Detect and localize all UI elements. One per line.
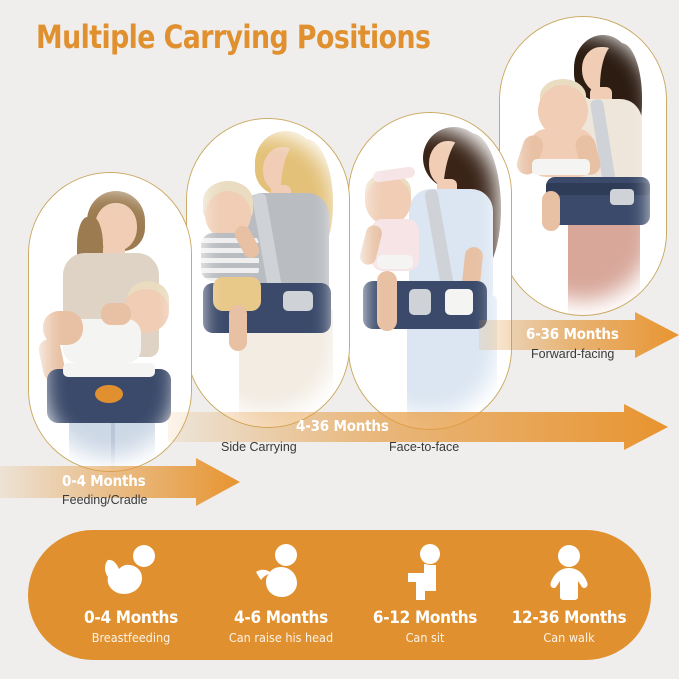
- stage-desc: Breastfeeding: [56, 630, 206, 645]
- arrow-side-carrying-age: 4-36 Months: [296, 417, 389, 435]
- photo-side-carrying: [187, 119, 349, 427]
- page-title: Multiple Carrying Positions: [36, 18, 430, 56]
- stage-raise-head: 4-6 Months Can raise his head: [206, 530, 356, 660]
- stage-months: 4-6 Months: [206, 608, 356, 628]
- photo-forward-facing: [500, 17, 666, 315]
- arrow-feeding-cradle-age: 0-4 Months: [62, 472, 146, 490]
- baby-breastfeeding-icon: [56, 544, 206, 606]
- photo-panel-side-carrying: [186, 118, 350, 428]
- stage-desc: Can walk: [494, 630, 644, 645]
- arrow-feeding-cradle-label: Feeding/Cradle: [62, 493, 147, 507]
- photo-face-to-face: [349, 113, 511, 429]
- stage-months: 12-36 Months: [494, 608, 644, 628]
- photo-panel-face-to-face: [348, 112, 512, 430]
- stage-can-walk: 12-36 Months Can walk: [494, 530, 644, 660]
- baby-walking-icon: [494, 544, 644, 606]
- arrow-forward-facing-label: Forward-facing: [531, 347, 614, 361]
- stage-can-sit: 6-12 Months Can sit: [350, 530, 500, 660]
- infographic-canvas: Multiple Carrying Positions: [0, 0, 679, 679]
- photo-feeding-cradle: [29, 173, 191, 471]
- carrier-logo-badge: [95, 385, 123, 403]
- arrow-side-carrying-label: Side Carrying: [221, 440, 297, 454]
- baby-sitting-icon: [350, 544, 500, 606]
- stage-months: 6-12 Months: [350, 608, 500, 628]
- stage-desc: Can raise his head: [206, 630, 356, 645]
- arrow-face-to-face-label: Face-to-face: [389, 440, 459, 454]
- arrow-forward-facing-age: 6-36 Months: [526, 325, 619, 343]
- stage-months: 0-4 Months: [56, 608, 206, 628]
- development-stages-panel: 0-4 Months Breastfeeding 4-6 Months Can …: [28, 530, 651, 660]
- stage-desc: Can sit: [350, 630, 500, 645]
- stage-breastfeeding: 0-4 Months Breastfeeding: [56, 530, 206, 660]
- baby-raise-head-icon: [206, 544, 356, 606]
- photo-panel-forward-facing: [499, 16, 667, 316]
